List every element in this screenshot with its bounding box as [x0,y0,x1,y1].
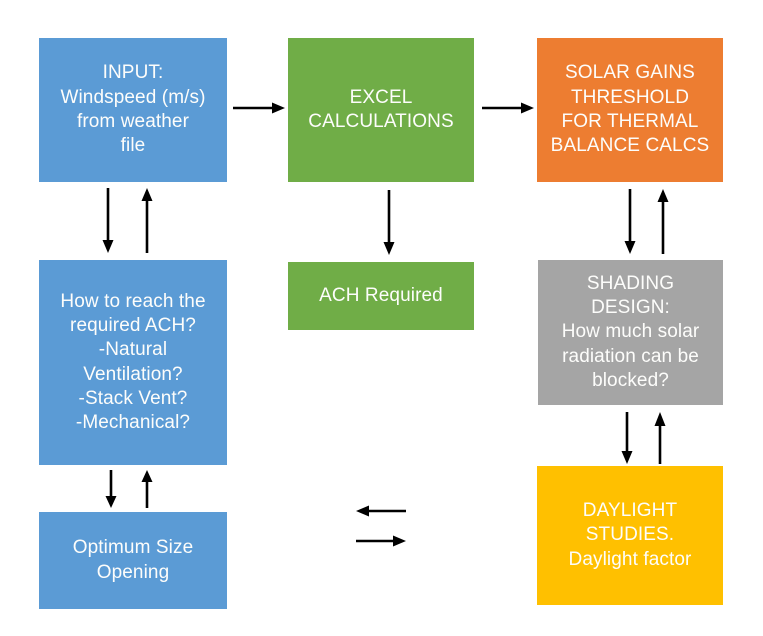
node-daylight-studies[interactable]: DAYLIGHT STUDIES. Daylight factor [537,466,723,605]
node-optimum-size-opening[interactable]: Optimum Size Opening [39,512,227,609]
arrow-ach-question-down-to-opening [103,470,119,508]
arrow-opening-up-to-ach-question [139,470,155,508]
node-ach-required-label: ACH Required [319,284,443,308]
node-ach-required[interactable]: ACH Required [288,262,474,330]
node-excel-calculations-label: EXCEL CALCULATIONS [308,86,454,135]
node-input-windspeed[interactable]: INPUT: Windspeed (m/s) from weather file [39,38,227,182]
arrow-shading-up-to-solar-gains [655,189,671,254]
node-daylight-studies-label: DAYLIGHT STUDIES. Daylight factor [569,499,692,572]
flowchart-canvas: INPUT: Windspeed (m/s) from weather file… [0,0,763,636]
arrow-center-right [356,533,406,549]
node-shading-design[interactable]: SHADING DESIGN: How much solar radiation… [538,260,723,405]
node-excel-calculations[interactable]: EXCEL CALCULATIONS [288,38,474,182]
arrow-solar-gains-down-to-shading [622,189,638,254]
node-input-windspeed-label: INPUT: Windspeed (m/s) from weather file [60,61,205,158]
node-shading-design-label: SHADING DESIGN: How much solar radiation… [562,272,700,394]
arrow-ach-question-up-to-input [139,188,155,253]
arrow-excel-to-solar-gains [482,100,534,116]
arrow-input-down-to-ach-question [100,188,116,253]
node-solar-gains-threshold-label: SOLAR GAINS THRESHOLD FOR THERMAL BALANC… [551,61,710,158]
node-solar-gains-threshold[interactable]: SOLAR GAINS THRESHOLD FOR THERMAL BALANC… [537,38,723,182]
arrow-excel-down-to-ach-required [381,190,397,255]
node-optimum-size-opening-label: Optimum Size Opening [73,536,194,585]
arrow-input-to-excel [233,100,285,116]
node-how-to-reach-ach[interactable]: How to reach the required ACH? -Natural … [39,260,227,465]
arrow-daylight-up-to-shading [652,412,668,464]
arrow-center-left [356,503,406,519]
arrow-shading-down-to-daylight [619,412,635,464]
node-how-to-reach-ach-label: How to reach the required ACH? -Natural … [60,290,205,436]
